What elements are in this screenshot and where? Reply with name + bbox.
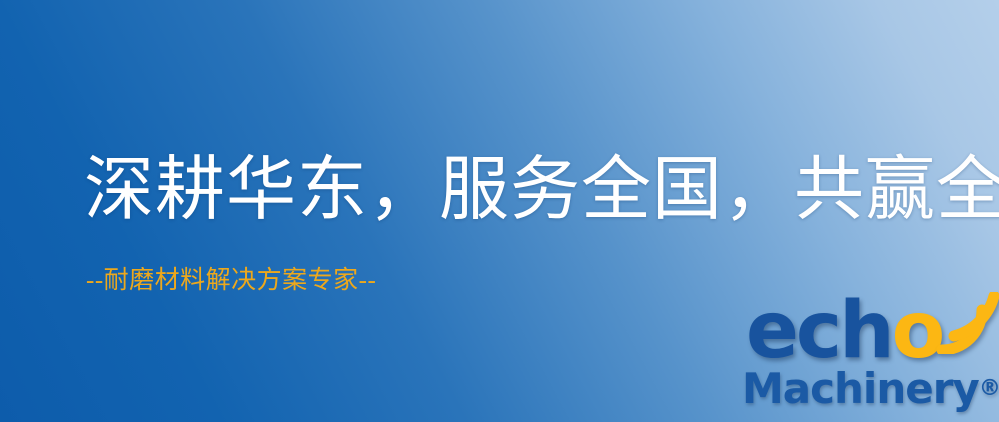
logo-echo-primary: ech bbox=[746, 286, 892, 376]
banner-headline: 深耕华东，服务全国，共赢全球 bbox=[84, 150, 999, 232]
hero-banner: 深耕华东，服务全国，共赢全球 --耐磨材料解决方案专家-- echo Machi… bbox=[0, 0, 999, 422]
logo-machinery-text: Machinery® bbox=[742, 366, 999, 412]
logo-machinery-word: Machinery bbox=[742, 364, 979, 413]
registered-trademark-icon: ® bbox=[979, 376, 999, 401]
signal-waves-icon bbox=[928, 292, 999, 354]
banner-subtitle: --耐磨材料解决方案专家-- bbox=[86, 265, 376, 297]
echo-machinery-logo[interactable]: echo Machinery® bbox=[742, 296, 999, 422]
logo-echo-text: echo bbox=[746, 292, 942, 370]
